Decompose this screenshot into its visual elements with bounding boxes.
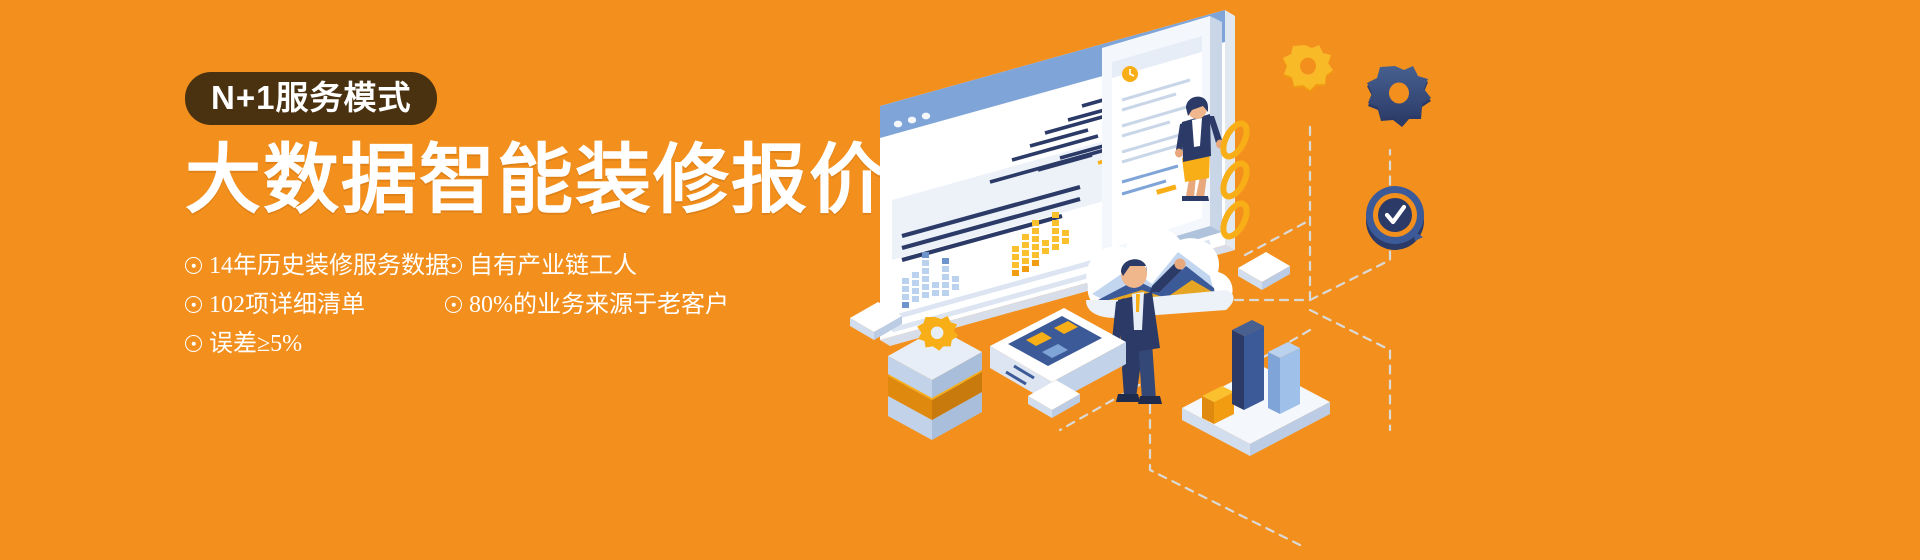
list-item: 误差≥5% — [185, 332, 435, 356]
list-item: 14年历史装修服务数据 — [185, 254, 435, 278]
big-data-isometric-illustration — [830, 0, 1920, 560]
bullet-dot-icon — [445, 257, 462, 274]
bullet-dot-icon — [185, 257, 202, 274]
promo-banner: N+1服务模式 大数据智能装修报价 14年历史装修服务数据 自有产业链工人 10… — [0, 0, 1920, 560]
bullet-dot-icon — [445, 296, 462, 313]
bar-chart-blocks — [1182, 320, 1330, 456]
gear-icon-navy — [1367, 66, 1431, 127]
list-item-label: 误差≥5% — [209, 332, 302, 356]
check-badge-icon — [1366, 186, 1424, 250]
list-item: 自有产业链工人 — [445, 254, 885, 278]
service-mode-badge: N+1服务模式 — [185, 72, 437, 125]
banner-copy: N+1服务模式 大数据智能装修报价 14年历史装修服务数据 自有产业链工人 10… — [185, 72, 885, 363]
list-item-label: 14年历史装修服务数据 — [209, 254, 449, 278]
list-item: 102项详细清单 — [185, 293, 435, 317]
list-item: 80%的业务来源于老客户 — [445, 293, 885, 317]
banner-headline: 大数据智能装修报价 — [185, 141, 885, 220]
list-item-label: 102项详细清单 — [209, 293, 365, 317]
gear-icon-amber — [1283, 45, 1333, 92]
bullet-dot-icon — [185, 335, 202, 352]
list-item-label: 80%的业务来源于老客户 — [469, 293, 729, 317]
bullet-dot-icon — [185, 296, 202, 313]
card-right — [1238, 252, 1290, 290]
feature-bullet-list: 14年历史装修服务数据 自有产业链工人 102项详细清单 80%的业务来源于老客… — [185, 246, 885, 363]
clock-icon — [1122, 66, 1138, 82]
list-item-label: 自有产业链工人 — [469, 254, 637, 278]
